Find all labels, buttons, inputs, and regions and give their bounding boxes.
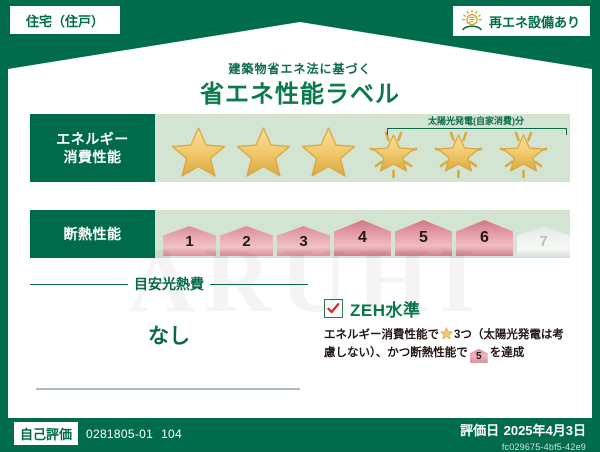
zeh-checkbox[interactable] (324, 299, 343, 318)
evaluation-date: 評価日 2025年4月3日 (460, 420, 586, 440)
insulation-level-6: 6 (456, 220, 513, 256)
evaluation-date-label: 評価日 (460, 423, 499, 438)
utility-cost-section: 目安光熱費 なし (30, 268, 308, 408)
zeh-desc-part1: エネルギー消費性能で (324, 329, 439, 341)
zeh-desc-star-count: 3つ（太陽光発電 (454, 329, 541, 341)
insulation-level-value: 5 (419, 229, 428, 247)
solar-bracket-line (387, 128, 567, 135)
insulation-level-value: 6 (480, 229, 489, 247)
energy-performance-label: 住宅（住戸） 再エネ設備あり 建築物省エネ法に基づ (0, 0, 600, 450)
insulation-level-value: 1 (185, 233, 193, 250)
section-divider (36, 388, 300, 390)
insulation-level-4: 4 (334, 220, 391, 256)
energy-performance-panel: エネルギー 消費性能 (30, 114, 570, 182)
heading-rule-left (30, 284, 128, 285)
energy-label-line2: 消費性能 (64, 148, 122, 166)
insulation-level-scale: 1 2 3 4 5 (155, 212, 570, 256)
insulation-level-1: 1 (163, 226, 216, 256)
star-icon-inline (440, 327, 453, 340)
insulation-level-value: 3 (299, 233, 307, 250)
label-title: 省エネ性能ラベル (8, 74, 592, 109)
utility-cost-heading: 目安光熱費 (30, 274, 308, 294)
label-card: 建築物省エネ法に基づく 省エネ性能ラベル エネルギー 消費性能 (8, 22, 592, 418)
building-type-label: 住宅（住戸） (26, 11, 104, 30)
footer-left: 自己評価 0281805-01 104 (14, 422, 182, 445)
footer-right: 評価日 2025年4月3日 fc029675-4bf5-42e9 (460, 420, 586, 452)
energy-label-line1: エネルギー (56, 130, 129, 148)
star-icon-filled (167, 123, 230, 179)
utility-cost-value: なし (30, 320, 308, 350)
insulation-rating-area: 1 2 3 4 5 (155, 210, 570, 258)
footer-sub-code: 104 (161, 427, 182, 441)
star-icon-filled (297, 123, 360, 179)
evaluation-type-badge: 自己評価 (14, 422, 78, 445)
heading-rule-right (210, 284, 308, 285)
footer-code: 0281805-01 (86, 427, 153, 441)
check-icon (327, 302, 340, 315)
energy-rating-area: 太陽光発電(自家消費)分 (155, 114, 570, 182)
insulation-badge-inline: 5 (470, 349, 488, 363)
insulation-level-2: 2 (220, 226, 273, 256)
zeh-heading: ZEH水準 (324, 296, 570, 321)
insulation-level-5: 5 (395, 220, 452, 256)
star-icon-filled (232, 123, 295, 179)
insulation-badge-value: 5 (476, 351, 482, 362)
solar-sun-icon (459, 9, 485, 33)
utility-cost-title: 目安光熱費 (134, 274, 204, 294)
insulation-label: 断熱性能 (64, 225, 122, 243)
evaluation-date-value: 2025年4月3日 (504, 423, 586, 438)
zeh-description: エネルギー消費性能で 3つ（太陽光発電は考慮しない）、かつ断熱性能で5を達成 (324, 327, 570, 363)
insulation-level-value: 7 (539, 233, 547, 250)
insulation-level-value: 4 (358, 229, 367, 247)
insulation-level-7: 7 (517, 226, 570, 256)
footer: 自己評価 0281805-01 104 評価日 2025年4月3日 fc0296… (0, 418, 600, 450)
insulation-performance-panel: 断熱性能 1 2 3 (30, 210, 570, 258)
building-type-badge: 住宅（住戸） (10, 6, 120, 34)
zeh-section: ZEH水準 エネルギー消費性能で 3つ（太陽光発電は考慮しない）、かつ断熱性能で… (308, 268, 570, 408)
solar-bracket: 太陽光発電(自家消費)分 (383, 116, 569, 134)
renewable-equipment-badge: 再エネ設備あり (453, 6, 590, 36)
zeh-desc-part3: を達成 (490, 347, 525, 359)
insulation-label-block: 断熱性能 (30, 210, 155, 258)
solar-bracket-label: 太陽光発電(自家消費)分 (383, 114, 569, 127)
record-id: fc029675-4bf5-42e9 (460, 442, 586, 452)
energy-performance-label-block: エネルギー 消費性能 (30, 114, 155, 182)
zeh-title: ZEH水準 (350, 296, 421, 321)
lower-section: 目安光熱費 なし ZEH水準 エネルギー消費性能で (30, 268, 570, 408)
insulation-level-3: 3 (277, 226, 330, 256)
insulation-level-value: 2 (242, 233, 250, 250)
renewable-equipment-label: 再エネ設備あり (489, 12, 580, 31)
